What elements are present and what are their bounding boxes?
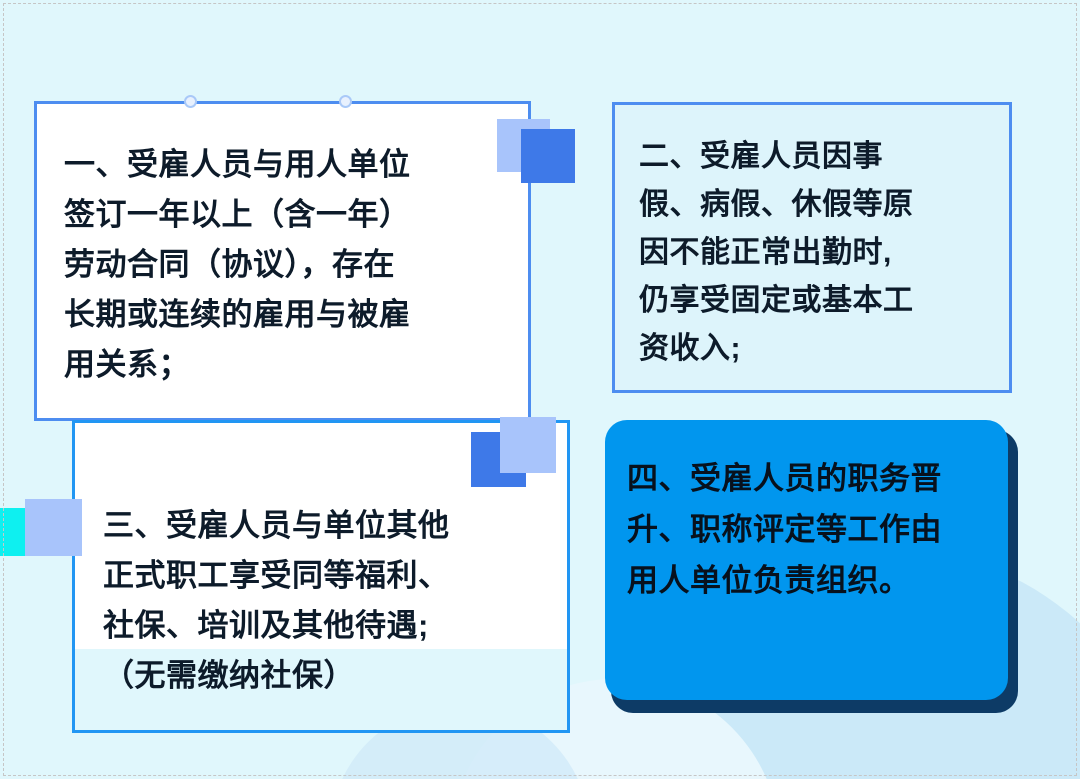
selection-handle-top-left[interactable]	[184, 95, 197, 108]
square-cluster-a-blue	[521, 129, 575, 183]
item-two-text: 二、受雇人员因事 假、病假、休假等原 因不能正常出勤时, 仍享受固定或基本工 资…	[639, 133, 999, 373]
item-four-text: 四、受雇人员的职务晋 升、职称评定等工作由 用人单位负责组织。	[627, 453, 1000, 606]
item-four-box-wrapper: 四、受雇人员的职务晋 升、职称评定等工作由 用人单位负责组织。	[605, 420, 1018, 713]
item-one-box[interactable]: 一、受雇人员与用人单位 签订一年以上（含一年） 劳动合同（协议），存在 长期或连…	[34, 101, 531, 421]
square-cluster-b-light	[500, 417, 556, 473]
square-cluster-c-light	[25, 499, 82, 556]
selection-handle-top-right[interactable]	[339, 95, 352, 108]
item-four-box[interactable]: 四、受雇人员的职务晋 升、职称评定等工作由 用人单位负责组织。	[605, 420, 1008, 700]
item-three-text: 三、受雇人员与单位其他 正式职工享受同等福利、 社保、培训及其他待遇; （无需缴…	[103, 501, 557, 701]
item-two-box[interactable]: 二、受雇人员因事 假、病假、休假等原 因不能正常出勤时, 仍享受固定或基本工 资…	[612, 102, 1012, 393]
item-one-text: 一、受雇人员与用人单位 签订一年以上（含一年） 劳动合同（协议），存在 长期或连…	[64, 140, 514, 390]
slide-canvas: 一、受雇人员与用人单位 签订一年以上（含一年） 劳动合同（协议），存在 长期或连…	[0, 0, 1080, 779]
